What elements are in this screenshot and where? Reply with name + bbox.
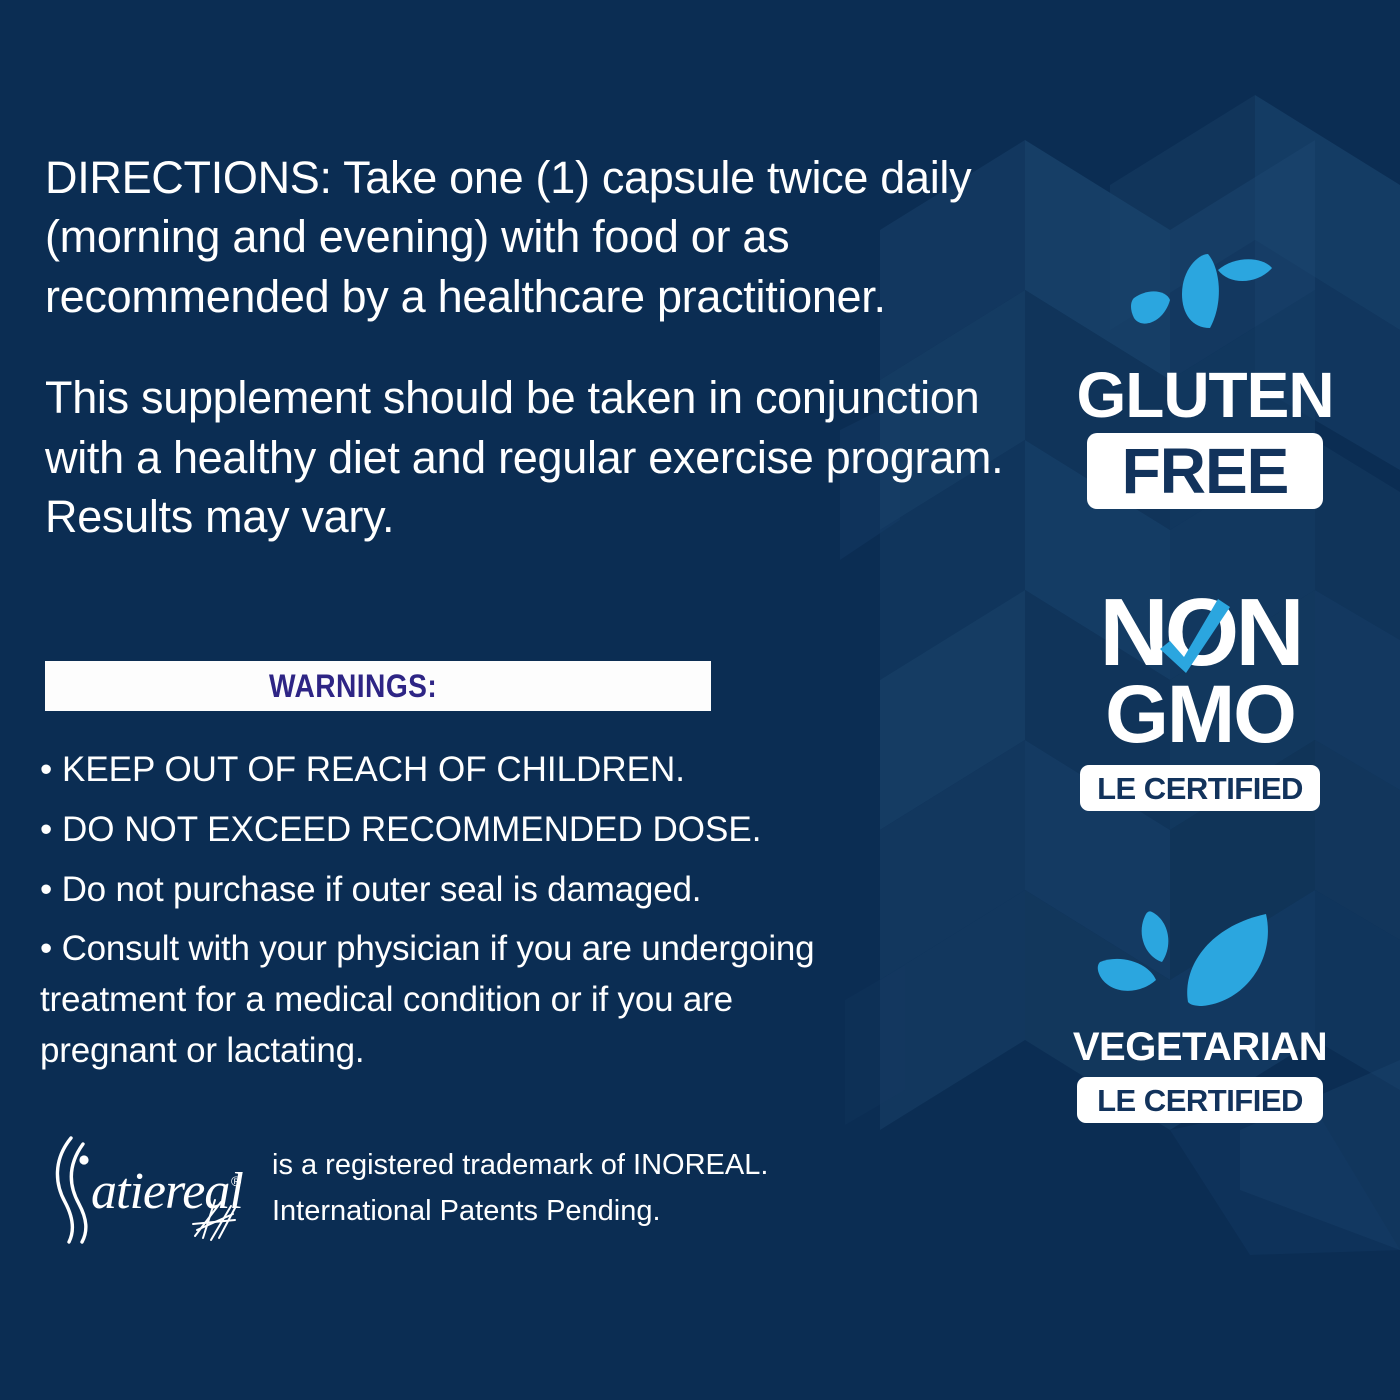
non-gmo-plate: LE CERTIFIED bbox=[1080, 765, 1320, 811]
svg-text:®: ® bbox=[231, 1173, 242, 1189]
satiereal-logo-icon: atiereal ® bbox=[35, 1128, 260, 1248]
label-text-column: DIRECTIONS: Take one (1) capsule twice d… bbox=[45, 148, 1025, 596]
three-leaves-icon bbox=[1090, 252, 1320, 360]
non-gmo-word: GMO bbox=[1105, 675, 1295, 755]
trademark-text: is a registered trademark of INOREAL. In… bbox=[272, 1142, 768, 1235]
badge-non-gmo: NON GMO LE CERTIFIED bbox=[1050, 585, 1350, 811]
vegetarian-plate: LE CERTIFIED bbox=[1077, 1077, 1323, 1123]
supplement-note-paragraph: This supplement should be taken in conju… bbox=[45, 368, 1005, 546]
plant-leaves-icon bbox=[1080, 900, 1320, 1018]
warnings-list: • KEEP OUT OF REACH OF CHILDREN. • DO NO… bbox=[40, 745, 870, 1086]
warning-item: • DO NOT EXCEED RECOMMENDED DOSE. bbox=[40, 805, 870, 856]
warning-item: • KEEP OUT OF REACH OF CHILDREN. bbox=[40, 745, 870, 796]
warnings-heading-text: WARNINGS: bbox=[269, 668, 437, 705]
directions-paragraph: DIRECTIONS: Take one (1) capsule twice d… bbox=[45, 148, 1005, 326]
trademark-block: atiereal ® is a registered trademark of … bbox=[35, 1128, 835, 1248]
svg-text:atiereal: atiereal bbox=[91, 1163, 243, 1220]
gluten-free-word: GLUTEN bbox=[1076, 364, 1333, 427]
warnings-heading-bar: WARNINGS: bbox=[45, 661, 711, 711]
badge-gluten-free: GLUTEN FREE bbox=[1055, 252, 1355, 509]
supplement-label-panel: DIRECTIONS: Take one (1) capsule twice d… bbox=[0, 0, 1400, 1400]
gluten-free-plate: FREE bbox=[1087, 433, 1323, 509]
trademark-line-2: International Patents Pending. bbox=[272, 1188, 768, 1234]
warning-item: • Do not purchase if outer seal is damag… bbox=[40, 865, 870, 916]
trademark-line-1: is a registered trademark of INOREAL. bbox=[272, 1142, 768, 1188]
non-with-checkmark-icon: NON bbox=[1066, 585, 1334, 681]
badge-vegetarian: VEGETARIAN LE CERTIFIED bbox=[1050, 900, 1350, 1123]
warning-item: • Consult with your physician if you are… bbox=[40, 924, 870, 1076]
vegetarian-word: VEGETARIAN bbox=[1073, 1028, 1327, 1067]
